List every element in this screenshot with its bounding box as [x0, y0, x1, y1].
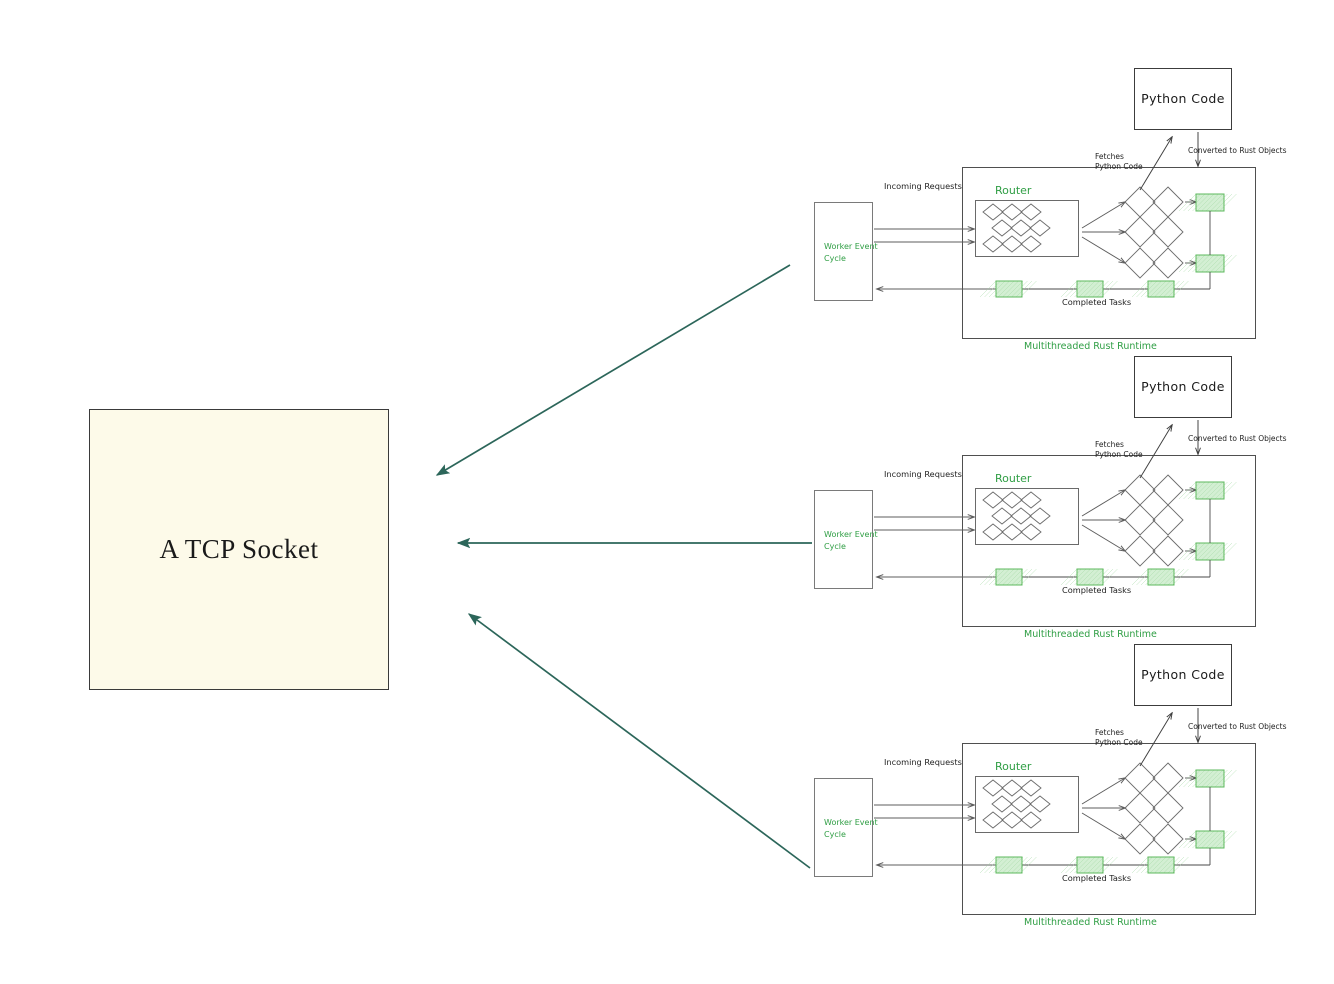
diamond-icon — [983, 812, 1003, 828]
router-to-worker-row-3-arrow — [1082, 813, 1125, 839]
diamond-icon — [992, 796, 1012, 812]
hatch-line — [1179, 770, 1196, 787]
diamond-icon — [1002, 812, 1022, 828]
diamond-icon — [1153, 824, 1183, 854]
cluster-3: Python CodeMultithreaded Rust RuntimeWor… — [0, 0, 1334, 984]
router-to-worker-row-1-arrow — [1082, 778, 1125, 804]
diamond-icon — [1125, 793, 1155, 823]
diamond-icon — [1125, 824, 1155, 854]
fetches-python-code-arrow — [1140, 713, 1172, 766]
diagram-canvas: A TCP Socket Python CodeMultithreaded Ru… — [0, 0, 1334, 984]
diamond-icon — [983, 780, 1003, 796]
diamond-icon — [1021, 780, 1041, 796]
diamond-icon — [1021, 812, 1041, 828]
diamond-icon — [1002, 780, 1022, 796]
diamond-icon — [1125, 763, 1155, 793]
cluster-lines-3 — [0, 0, 1334, 984]
diamond-icon — [1153, 793, 1183, 823]
diamond-icon — [1030, 796, 1050, 812]
hatch-line — [1179, 831, 1196, 848]
diamond-icon — [1011, 796, 1031, 812]
diamond-icon — [1153, 763, 1183, 793]
